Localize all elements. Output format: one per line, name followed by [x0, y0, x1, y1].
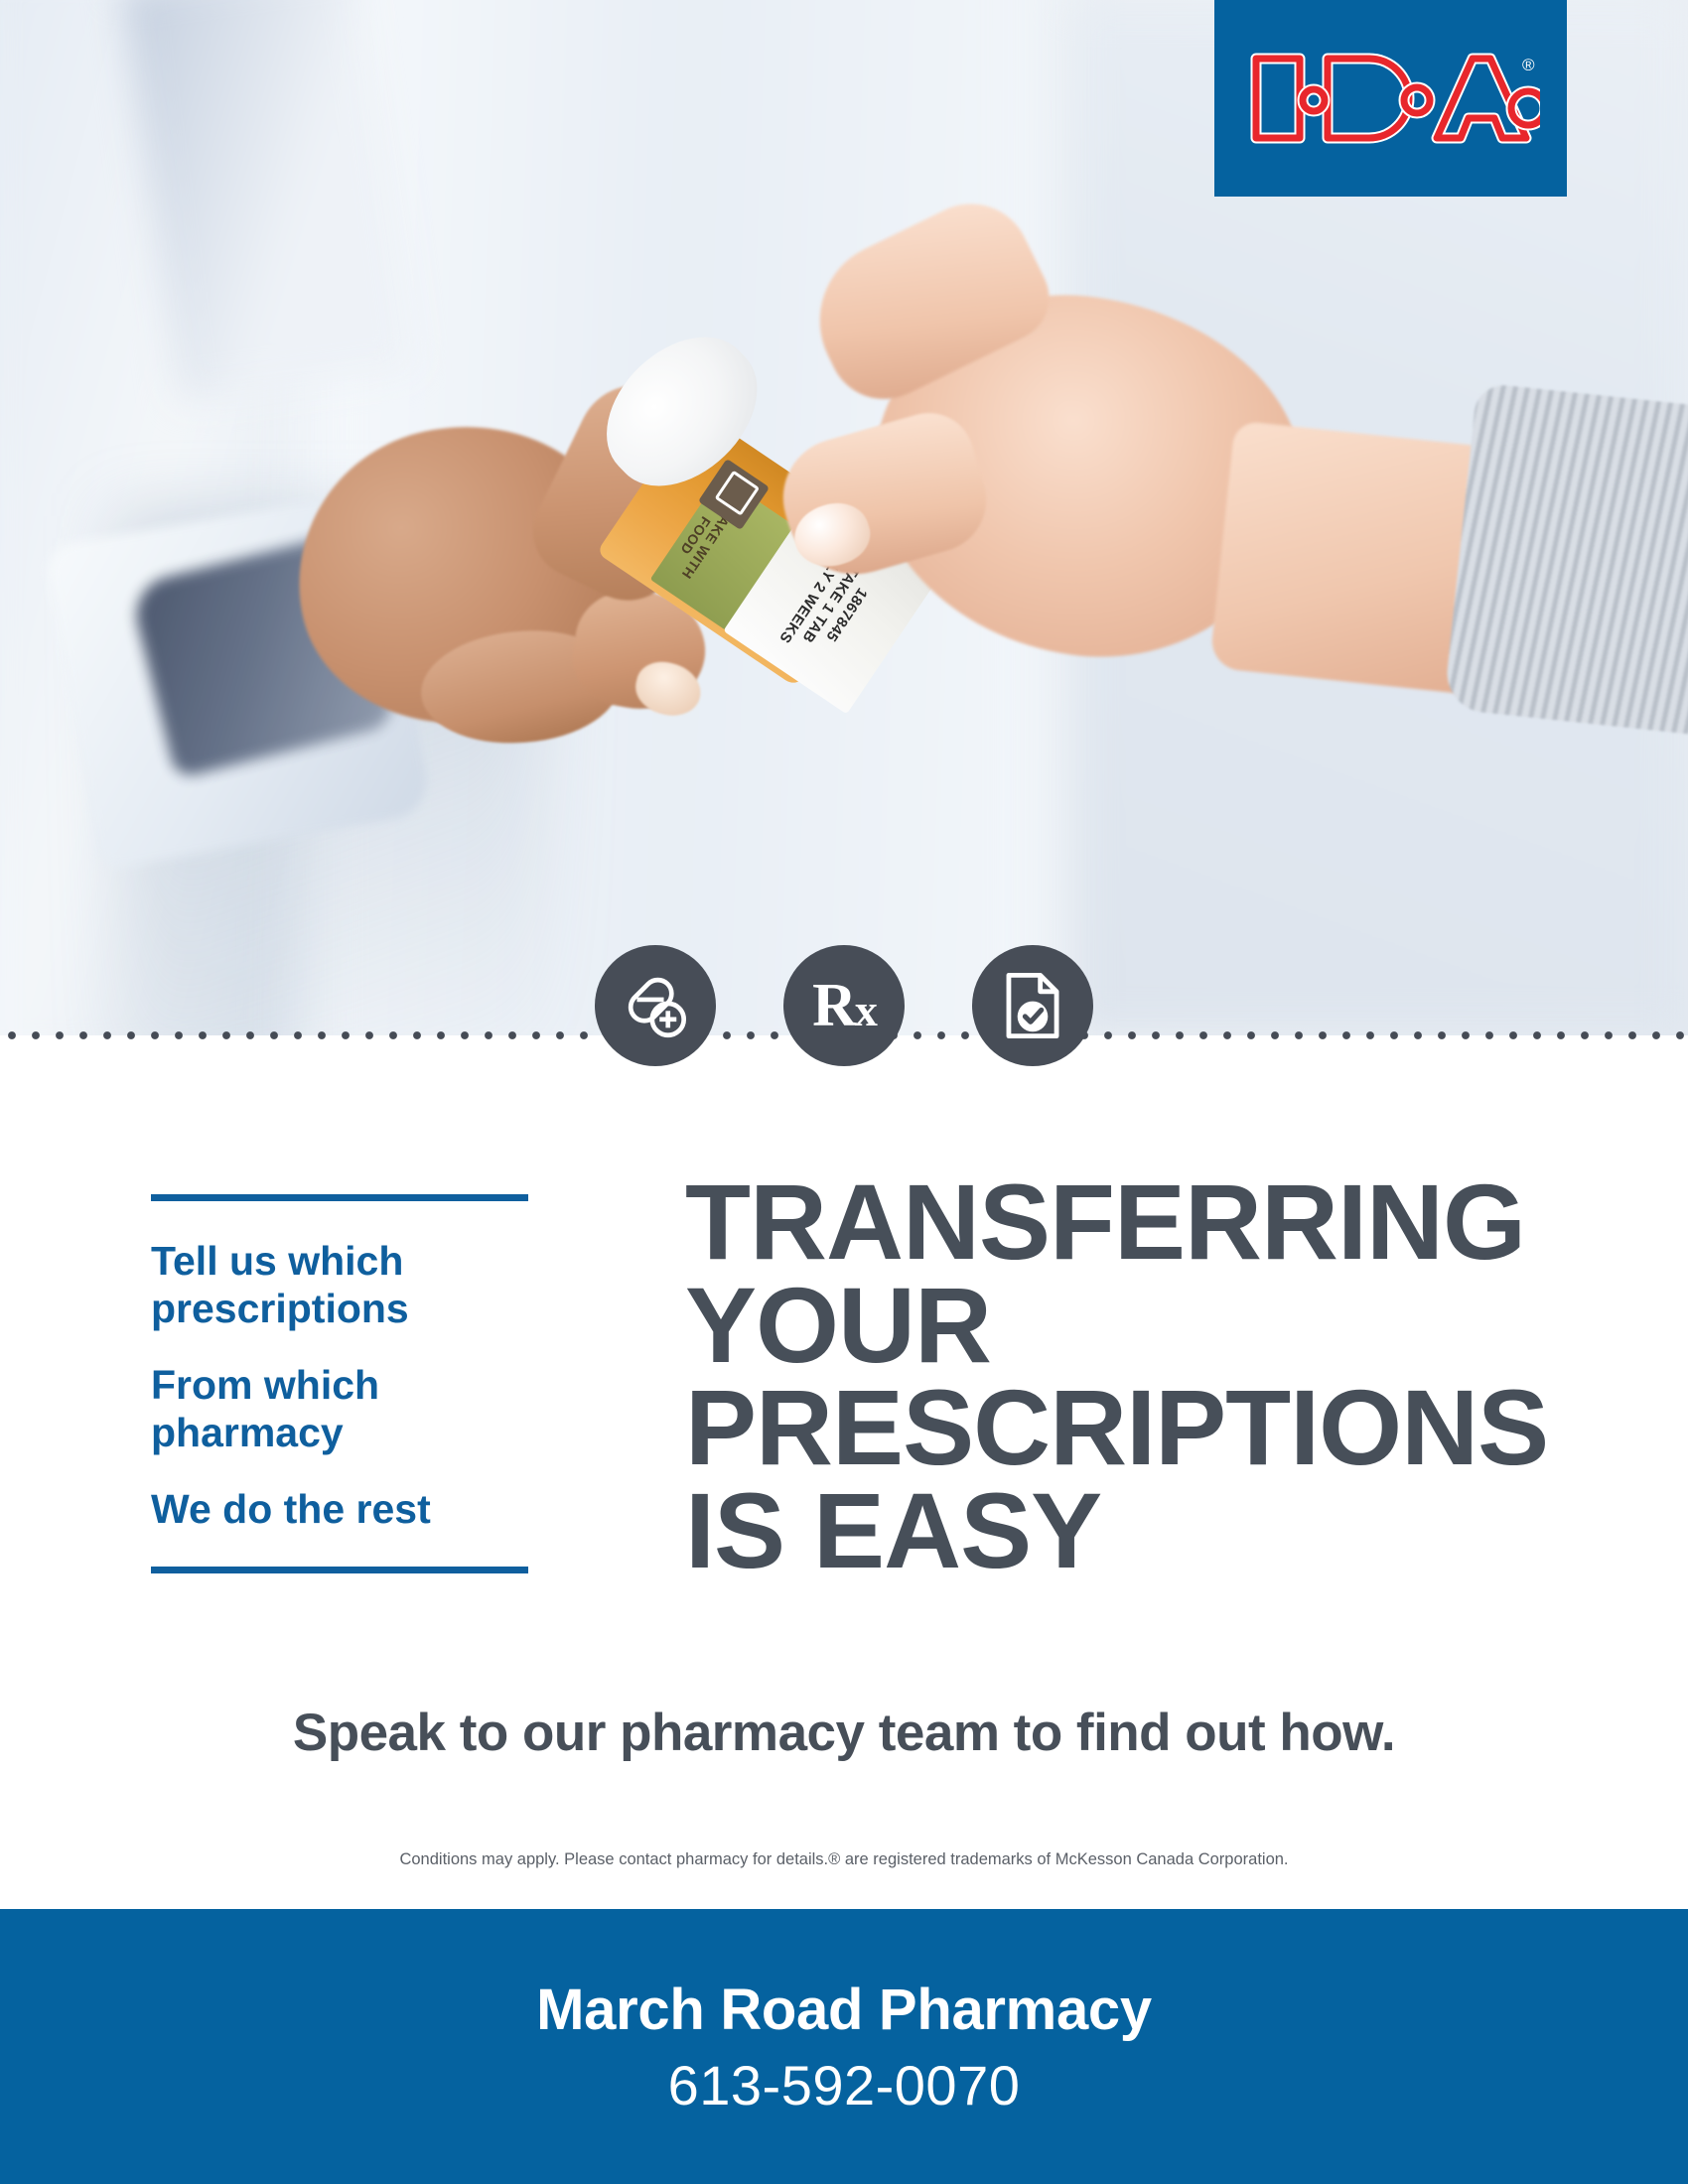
registered-trademark-symbol: ®: [1522, 56, 1535, 74]
benefit-list: Tell us which prescriptions From which p…: [151, 1194, 528, 1573]
headline-line-2: YOUR: [685, 1274, 1539, 1377]
legal-disclaimer: Conditions may apply. Please contact pha…: [0, 1849, 1688, 1870]
call-to-action-text: Speak to our pharmacy team to find out h…: [0, 1703, 1688, 1763]
document-check-icon: [972, 945, 1093, 1066]
rx-symbol: Rx: [812, 975, 876, 1036]
pharmacy-phone[interactable]: 613-592-0070: [668, 2053, 1021, 2117]
pharmacy-footer: March Road Pharmacy 613-592-0070: [0, 1909, 1688, 2184]
ida-logo: ®: [1214, 0, 1567, 197]
headline-line-3: PRESCRIPTIONS: [685, 1376, 1539, 1479]
rx-letter-x: x: [855, 985, 876, 1035]
page-title: TRANSFERRING YOUR PRESCRIPTIONS IS EASY: [685, 1170, 1539, 1582]
list-rule-bottom: [151, 1567, 528, 1573]
benefit-item-3: We do the rest: [151, 1485, 528, 1533]
benefit-item-1: Tell us which prescriptions: [151, 1237, 528, 1333]
customer-knit-sleeve: [1444, 382, 1688, 740]
rx-letter-r: R: [812, 972, 855, 1039]
headline-line-4: IS EASY: [685, 1479, 1539, 1582]
benefit-item-2: From which pharmacy: [151, 1361, 528, 1457]
hero-photo: TAKE WITH FOOD 1867845 TAKE 1 TAB ONLY 2…: [0, 0, 1688, 1035]
list-rule-top: [151, 1194, 528, 1201]
headline-line-1: TRANSFERRING: [685, 1170, 1539, 1274]
pills-plus-icon: [595, 945, 716, 1066]
rx-icon: Rx: [783, 945, 905, 1066]
icon-row: Rx: [0, 945, 1688, 1124]
pharmacy-name: March Road Pharmacy: [536, 1977, 1152, 2043]
ida-logo-mark: ®: [1242, 43, 1540, 154]
